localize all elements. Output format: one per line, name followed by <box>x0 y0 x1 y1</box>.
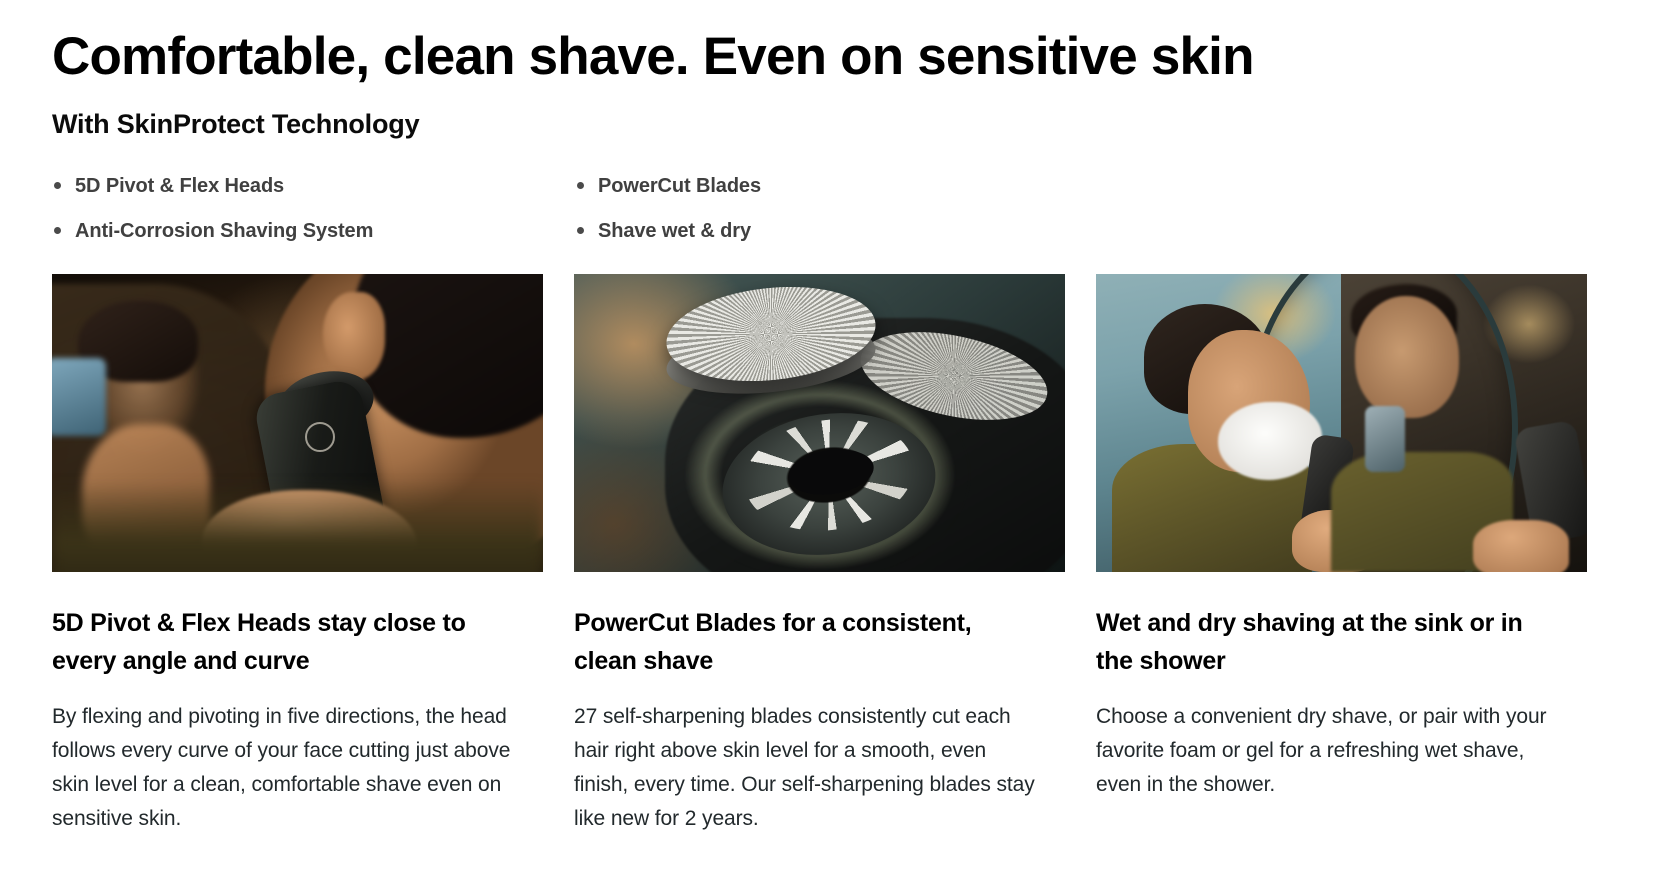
feature-bullet-label: 5D Pivot & Flex Heads <box>75 173 284 199</box>
feature-bullet-item: 5D Pivot & Flex Heads <box>52 173 575 199</box>
feature-bullet-item: Anti-Corrosion Shaving System <box>52 218 575 244</box>
photo-ear <box>323 292 385 380</box>
feature-card-title: 5D Pivot & Flex Heads stay close to ever… <box>52 572 502 680</box>
feature-card-image <box>574 274 1065 572</box>
feature-card-image <box>1096 274 1587 572</box>
bullet-dot-icon <box>577 182 584 189</box>
feature-bullet-item: Shave wet & dry <box>575 218 1098 244</box>
feature-card-title: PowerCut Blades for a consistent, clean … <box>574 572 1024 680</box>
bullet-dot-icon <box>577 227 584 234</box>
feature-bullet-label: Anti-Corrosion Shaving System <box>75 218 373 244</box>
product-feature-page: Comfortable, clean shave. Even on sensit… <box>0 0 1668 890</box>
feature-card-body: By flexing and pivoting in five directio… <box>52 680 522 836</box>
feature-card-image <box>52 274 543 572</box>
bullet-dot-icon <box>54 227 61 234</box>
page-title: Comfortable, clean shave. Even on sensit… <box>52 0 1616 88</box>
photo-shoulder <box>52 482 543 572</box>
feature-card: PowerCut Blades for a consistent, clean … <box>574 274 1065 836</box>
feature-card: 5D Pivot & Flex Heads stay close to ever… <box>52 274 543 836</box>
feature-bullet-label: PowerCut Blades <box>598 173 761 199</box>
feature-card-body: 27 self-sharpening blades consistently c… <box>574 680 1044 836</box>
feature-bullet-list: 5D Pivot & Flex Heads PowerCut Blades An… <box>52 141 1562 263</box>
feature-card: Wet and dry shaving at the sink or in th… <box>1096 274 1587 836</box>
photo-mirror-phone <box>52 358 106 436</box>
feature-bullet-label: Shave wet & dry <box>598 218 751 244</box>
photo-reflection-head <box>1355 296 1459 418</box>
photo-reflection-can <box>1365 406 1405 472</box>
feature-card-body: Choose a convenient dry shave, or pair w… <box>1096 680 1566 802</box>
photo-shaver-logo <box>305 422 335 452</box>
bullet-dot-icon <box>54 182 61 189</box>
feature-card-grid: 5D Pivot & Flex Heads stay close to ever… <box>52 263 1616 836</box>
page-subtitle: With SkinProtect Technology <box>52 88 1616 141</box>
photo-reflection-hand <box>1473 520 1569 572</box>
feature-bullet-item: PowerCut Blades <box>575 173 1098 199</box>
feature-card-title: Wet and dry shaving at the sink or in th… <box>1096 572 1546 680</box>
